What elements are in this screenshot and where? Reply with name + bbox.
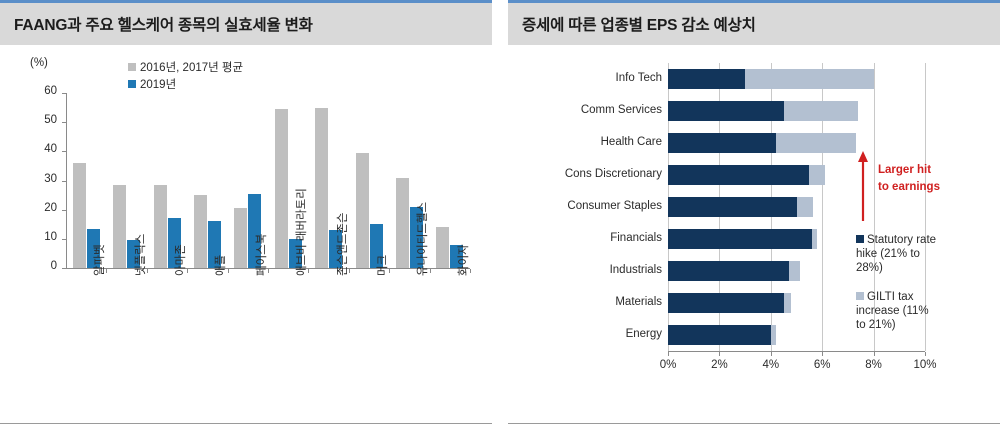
hbar-category-label: Info Tech	[518, 72, 662, 84]
legend-swatch-blue	[128, 80, 136, 88]
hbar-row	[668, 293, 791, 313]
x-axis-category-label: 아마존	[172, 244, 188, 276]
hbar-category-label: Consumer Staples	[518, 200, 662, 212]
hbar-segment-gilti	[812, 229, 817, 249]
x-axis-category-label: 애브비 래버라토리	[293, 188, 309, 276]
x-axis-tick	[925, 352, 926, 356]
hbar-row	[668, 197, 813, 217]
y-axis-tick-label: 0	[0, 260, 57, 272]
y-axis-tick-label: 60	[0, 85, 57, 97]
y-axis-tick	[62, 268, 66, 269]
x-axis-category-label: 유나이티드헬스	[414, 202, 430, 276]
x-axis-tick	[874, 352, 875, 356]
hbar-segment-gilti	[745, 69, 874, 89]
hbar-segment-gilti	[797, 197, 814, 217]
hbar-segment-gilti	[776, 133, 856, 153]
hbar-segment-statutory	[668, 325, 771, 345]
legend-swatch-gray	[128, 63, 136, 71]
larger-hit-annotation-line2: to earnings	[878, 180, 940, 194]
y-axis-tick	[62, 151, 66, 152]
hbar-segment-statutory	[668, 165, 809, 185]
panel-right-divider	[508, 423, 1000, 424]
x-axis-tick	[771, 352, 772, 356]
hbar-segment-statutory	[668, 69, 745, 89]
panel-right: 증세에 따른 업종별 EPS 감소 예상치 0%2%4%6%8%10%Info …	[508, 0, 1000, 432]
bar-gray	[113, 185, 126, 268]
y-axis-tick-label: 20	[0, 202, 57, 214]
x-axis-category-label: 페이스북	[253, 234, 269, 276]
hbar-segment-statutory	[668, 133, 776, 153]
hbar-row	[668, 165, 825, 185]
hbar-row	[668, 325, 776, 345]
panel-right-plot: 0%2%4%6%8%10%Info TechComm ServicesHealt…	[508, 45, 1000, 415]
effective-tax-rate-chart: (%)60504030201002016년, 2017년 평균2019년알파벳넷…	[0, 45, 492, 415]
x-axis-tick-label: 10%	[909, 359, 941, 371]
hbar-row	[668, 69, 874, 89]
x-axis-tick-label: 6%	[806, 359, 838, 371]
hbar-segment-statutory	[668, 197, 797, 217]
bar-gray	[154, 185, 167, 268]
panel-left: FAANG과 주요 헬스케어 종목의 실효세율 변화 (%)6050403020…	[0, 0, 492, 432]
bar-gray	[194, 195, 207, 268]
y-axis-tick-label: 30	[0, 173, 57, 185]
x-axis-tick	[668, 352, 669, 356]
x-axis-tick-label: 2%	[703, 359, 735, 371]
panel-left-divider	[0, 423, 492, 424]
x-axis-tick-label: 4%	[755, 359, 787, 371]
y-axis-tick	[62, 122, 66, 123]
y-axis-tick-label: 40	[0, 143, 57, 155]
x-axis-category-label: 넷플릭스	[132, 234, 148, 276]
bar-gray	[315, 108, 328, 268]
x-axis-category-label: 머크	[374, 255, 390, 276]
hbar-category-label: Health Care	[518, 136, 662, 148]
eps-decline-chart: 0%2%4%6%8%10%Info TechComm ServicesHealt…	[508, 45, 1000, 415]
hbar-row	[668, 101, 858, 121]
legend-swatch-navy	[856, 235, 864, 243]
hbar-segment-statutory	[668, 293, 784, 313]
x-axis-tick	[822, 352, 823, 356]
hbar-category-label: Energy	[518, 328, 662, 340]
panel-left-title: FAANG과 주요 헬스케어 종목의 실효세율 변화	[14, 13, 313, 35]
y-axis-tick	[62, 93, 66, 94]
bar-gray	[73, 163, 86, 268]
y-axis-tick	[62, 239, 66, 240]
larger-hit-annotation-line1: Larger hit	[878, 163, 931, 177]
x-axis-category-label: 알파벳	[91, 244, 107, 276]
y-axis-tick	[62, 181, 66, 182]
legend-item-2019: 2019년	[128, 76, 176, 92]
panel-right-header: 증세에 따른 업종별 EPS 감소 예상치	[508, 0, 1000, 45]
panel-left-header: FAANG과 주요 헬스케어 종목의 실효세율 변화	[0, 0, 492, 45]
bar-gray	[436, 227, 449, 268]
hbar-segment-statutory	[668, 101, 784, 121]
x-axis-tick-label: 8%	[858, 359, 890, 371]
bar-gray	[396, 178, 409, 268]
x-axis-tick	[719, 352, 720, 356]
hbar-category-label: Financials	[518, 232, 662, 244]
x-axis-line	[668, 351, 925, 352]
hbar-row	[668, 261, 800, 281]
panel-right-title: 증세에 따른 업종별 EPS 감소 예상치	[522, 13, 756, 35]
hbar-category-label: Cons Discretionary	[518, 168, 662, 180]
y-axis-tick-label: 10	[0, 231, 57, 243]
hbar-row	[668, 229, 817, 249]
larger-hit-arrow-icon	[856, 151, 870, 223]
x-axis-category-label: 화이자	[455, 244, 471, 276]
bar-gray	[275, 109, 288, 268]
hbar-row	[668, 133, 856, 153]
x-axis-tick-label: 0%	[652, 359, 684, 371]
hbar-segment-gilti	[771, 325, 776, 345]
hbar-category-label: Comm Services	[518, 104, 662, 116]
y-axis-tick-label: 50	[0, 114, 57, 126]
legend-swatch-lightgray	[856, 292, 864, 300]
panel-left-plot: (%)60504030201002016년, 2017년 평균2019년알파벳넷…	[0, 45, 492, 415]
hbar-segment-gilti	[789, 261, 801, 281]
hbar-segment-statutory	[668, 261, 789, 281]
hbar-category-label: Materials	[518, 296, 662, 308]
page-root: FAANG과 주요 헬스케어 종목의 실효세율 변화 (%)6050403020…	[0, 0, 1000, 432]
bar-gray	[356, 153, 369, 268]
legend-item-statutory-rate: Statutory ratehike (21% to28%)	[856, 233, 964, 275]
y-axis-line	[66, 93, 67, 268]
bar-gray	[234, 208, 247, 268]
hbar-segment-gilti	[809, 165, 824, 185]
x-axis-category-label: 존슨앤드존슨	[334, 213, 350, 276]
y-axis-tick	[62, 210, 66, 211]
x-axis-category-label: 애플	[212, 255, 228, 276]
legend-item-average: 2016년, 2017년 평균	[128, 59, 243, 75]
hbar-segment-statutory	[668, 229, 812, 249]
hbar-segment-gilti	[784, 293, 792, 313]
legend-item-gilti-tax: GILTI taxincrease (11%to 21%)	[856, 290, 964, 332]
y-axis-unit-label: (%)	[30, 57, 48, 69]
hbar-segment-gilti	[784, 101, 859, 121]
hbar-category-label: Industrials	[518, 264, 662, 276]
